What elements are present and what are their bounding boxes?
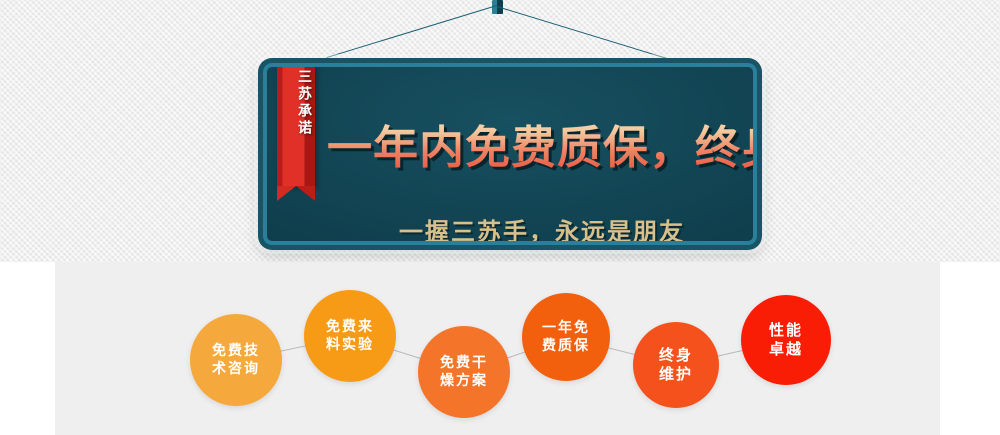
process-step-1[interactable]: 免费技术咨询 — [190, 314, 282, 406]
ribbon-label: 三苏承诺 — [277, 69, 315, 137]
process-step-label: 免费来料实验 — [322, 318, 378, 354]
process-step-5[interactable]: 终身维护 — [633, 322, 719, 408]
hanger-line-right — [497, 6, 668, 59]
process-step-6[interactable]: 性能卓越 — [741, 295, 831, 385]
process-step-4[interactable]: 一年免费质保 — [522, 293, 610, 381]
banner-subtitle: 一握三苏手，永远是朋友 — [327, 212, 757, 245]
process-step-line2: 术咨询 — [208, 360, 264, 378]
process-step-line2: 卓越 — [765, 340, 807, 359]
process-step-line1: 免费干 — [436, 354, 492, 372]
process-step-line2: 燥方案 — [436, 372, 492, 390]
process-step-line2: 费质保 — [538, 337, 594, 355]
process-step-line1: 性能 — [765, 321, 807, 340]
process-step-3[interactable]: 免费干燥方案 — [418, 326, 510, 418]
process-section: 免费技术咨询免费来料实验免费干燥方案一年免费质保终身维护性能卓越 — [0, 262, 1000, 435]
process-step-line1: 一年免 — [538, 319, 594, 337]
promise-ribbon: 三苏承诺 — [277, 63, 315, 186]
process-step-line2: 维护 — [655, 365, 697, 384]
process-step-2[interactable]: 免费来料实验 — [304, 290, 396, 382]
process-step-label: 一年免费质保 — [538, 319, 594, 355]
hanger-line-left — [326, 5, 497, 58]
process-step-label: 免费干燥方案 — [436, 354, 492, 390]
process-step-line1: 免费技 — [208, 342, 264, 360]
process-step-label: 免费技术咨询 — [208, 342, 264, 378]
banner-inner-frame: 三苏承诺 一年内免费质保，终身维护 一握三苏手，永远是朋友 — [263, 63, 757, 245]
top-textured-background: 三苏承诺 一年内免费质保，终身维护 一握三苏手，永远是朋友 — [0, 0, 1000, 262]
banner-headline: 一年内免费质保，终身维护 — [327, 111, 757, 176]
process-step-line1: 免费来 — [322, 318, 378, 336]
process-step-line2: 料实验 — [322, 336, 378, 354]
process-step-line1: 终身 — [655, 346, 697, 365]
promise-banner: 三苏承诺 一年内免费质保，终身维护 一握三苏手，永远是朋友 — [258, 58, 762, 250]
process-step-label: 终身维护 — [655, 346, 697, 384]
process-step-label: 性能卓越 — [765, 321, 807, 359]
